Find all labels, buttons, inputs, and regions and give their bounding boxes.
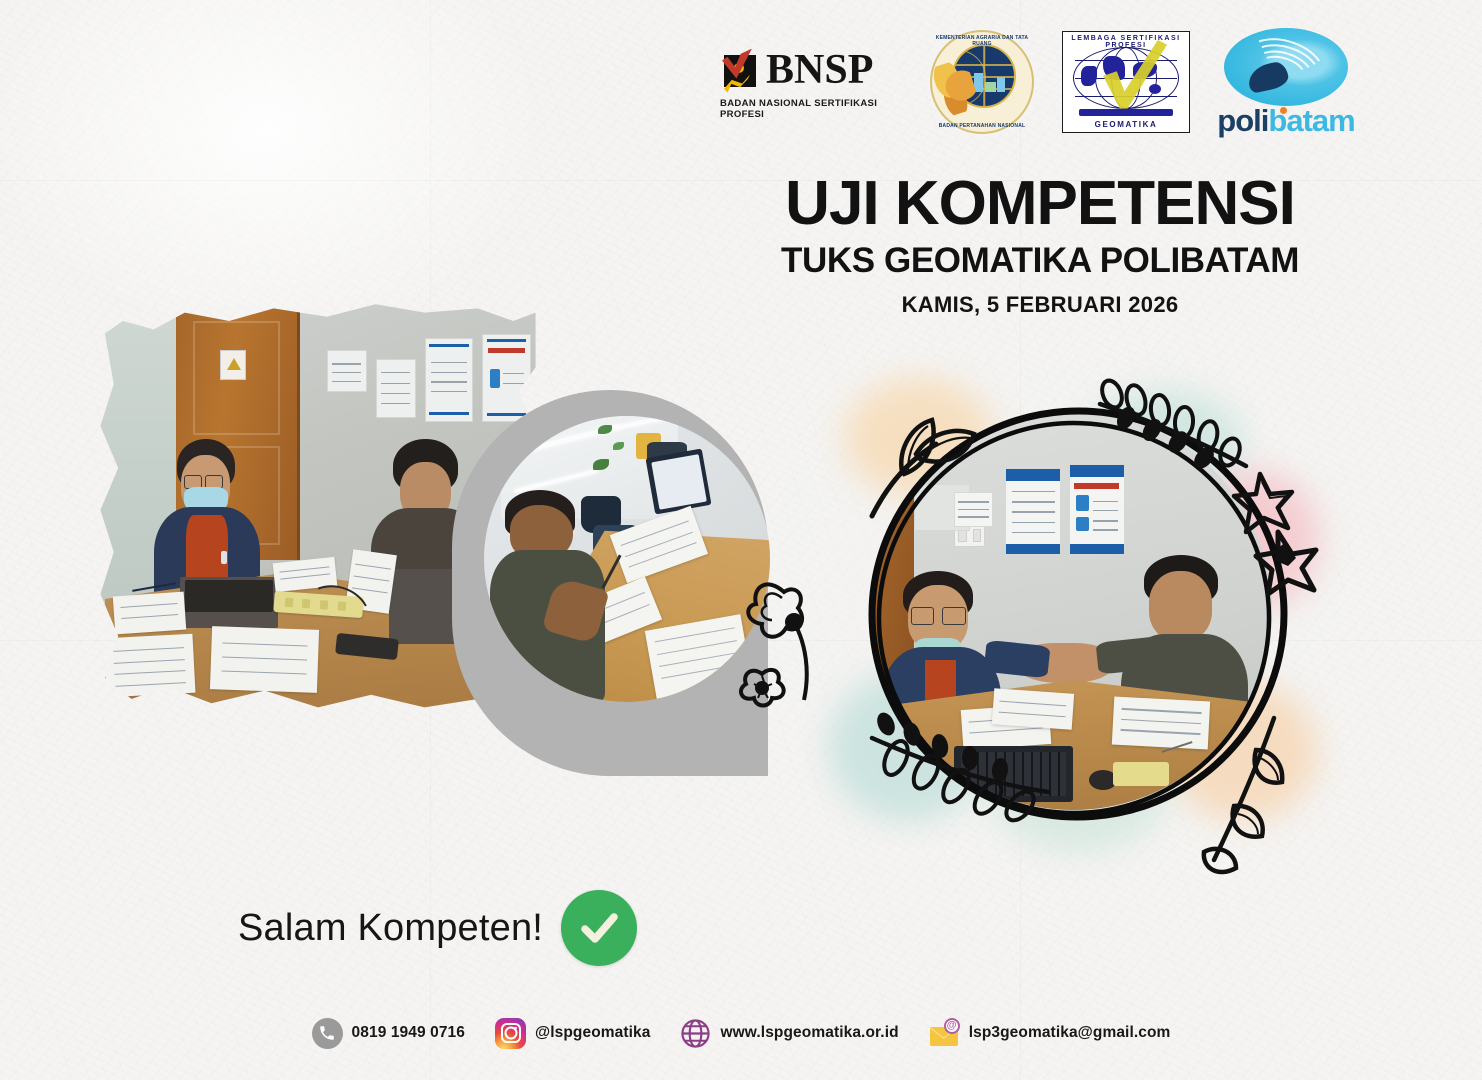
contact-instagram[interactable]: @lspgeomatika	[495, 1018, 650, 1049]
title-block: UJI KOMPETENSI TUKS GEOMATIKA POLIBATAM …	[640, 172, 1440, 318]
photo-right-wrap	[838, 372, 1318, 872]
photo-middle-writing	[484, 416, 770, 702]
contact-email[interactable]: @ lsp3geomatika@gmail.com	[929, 1018, 1171, 1049]
contact-website-label: www.lspgeomatika.or.id	[720, 1024, 898, 1042]
contact-phone[interactable]: 0819 1949 0716	[312, 1018, 465, 1049]
footer-contact-bar: 0819 1949 0716 @lspgeomatika www.lspgeom…	[0, 1010, 1482, 1056]
phone-icon	[312, 1018, 343, 1049]
poster-canvas: BNSP BADAN NASIONAL SERTIFIKASI PROFESI …	[0, 0, 1482, 1080]
bnsp-logo: BNSP BADAN NASIONAL SERTIFIKASI PROFESI	[720, 42, 902, 122]
atr-bpn-logo: KEMENTERIAN AGRARIA DAN TATA RUANG BADAN…	[928, 28, 1036, 136]
polibatam-logo: polibatam	[1216, 26, 1356, 138]
page-subtitle: TUKS GEOMATIKA POLIBATAM	[640, 243, 1440, 280]
contact-instagram-label: @lspgeomatika	[535, 1024, 650, 1042]
atr-ring-text-top: KEMENTERIAN AGRARIA DAN TATA RUANG	[928, 35, 1036, 47]
event-date: KAMIS, 5 FEBRUARI 2026	[640, 292, 1440, 318]
lsp-base-text: GEOMATIKA	[1063, 120, 1189, 129]
polibatam-wordmark-poli: poli	[1217, 103, 1268, 138]
lsp-geomatika-logo: LEMBAGA SERTIFIKASI PROFESI GEOMATIKA	[1062, 31, 1190, 133]
salam-text: Salam Kompeten!	[238, 907, 543, 950]
photo-right-handshake	[874, 412, 1272, 810]
instagram-icon	[495, 1018, 526, 1049]
contact-website[interactable]: www.lspgeomatika.or.id	[680, 1018, 898, 1049]
polibatam-i-dot	[1280, 107, 1287, 114]
lsp-arc-text: LEMBAGA SERTIFIKASI PROFESI	[1063, 35, 1189, 49]
contact-phone-label: 0819 1949 0716	[352, 1024, 465, 1042]
bnsp-wordmark: BNSP	[766, 49, 873, 91]
photo-middle-wrap	[452, 390, 792, 790]
email-icon: @	[929, 1018, 960, 1049]
check-badge	[561, 890, 637, 966]
globe-icon	[680, 1018, 711, 1049]
contact-email-label: lsp3geomatika@gmail.com	[969, 1024, 1171, 1042]
check-icon	[575, 904, 623, 952]
logo-row: BNSP BADAN NASIONAL SERTIFIKASI PROFESI …	[720, 22, 1420, 142]
bnsp-mark-icon	[720, 49, 762, 91]
salam-row: Salam Kompeten!	[238, 890, 637, 966]
page-title: UJI KOMPETENSI	[640, 172, 1440, 235]
bnsp-tagline: BADAN NASIONAL SERTIFIKASI PROFESI	[720, 98, 902, 120]
atr-ring-text-bottom: BADAN PERTANAHAN NASIONAL	[928, 123, 1036, 129]
